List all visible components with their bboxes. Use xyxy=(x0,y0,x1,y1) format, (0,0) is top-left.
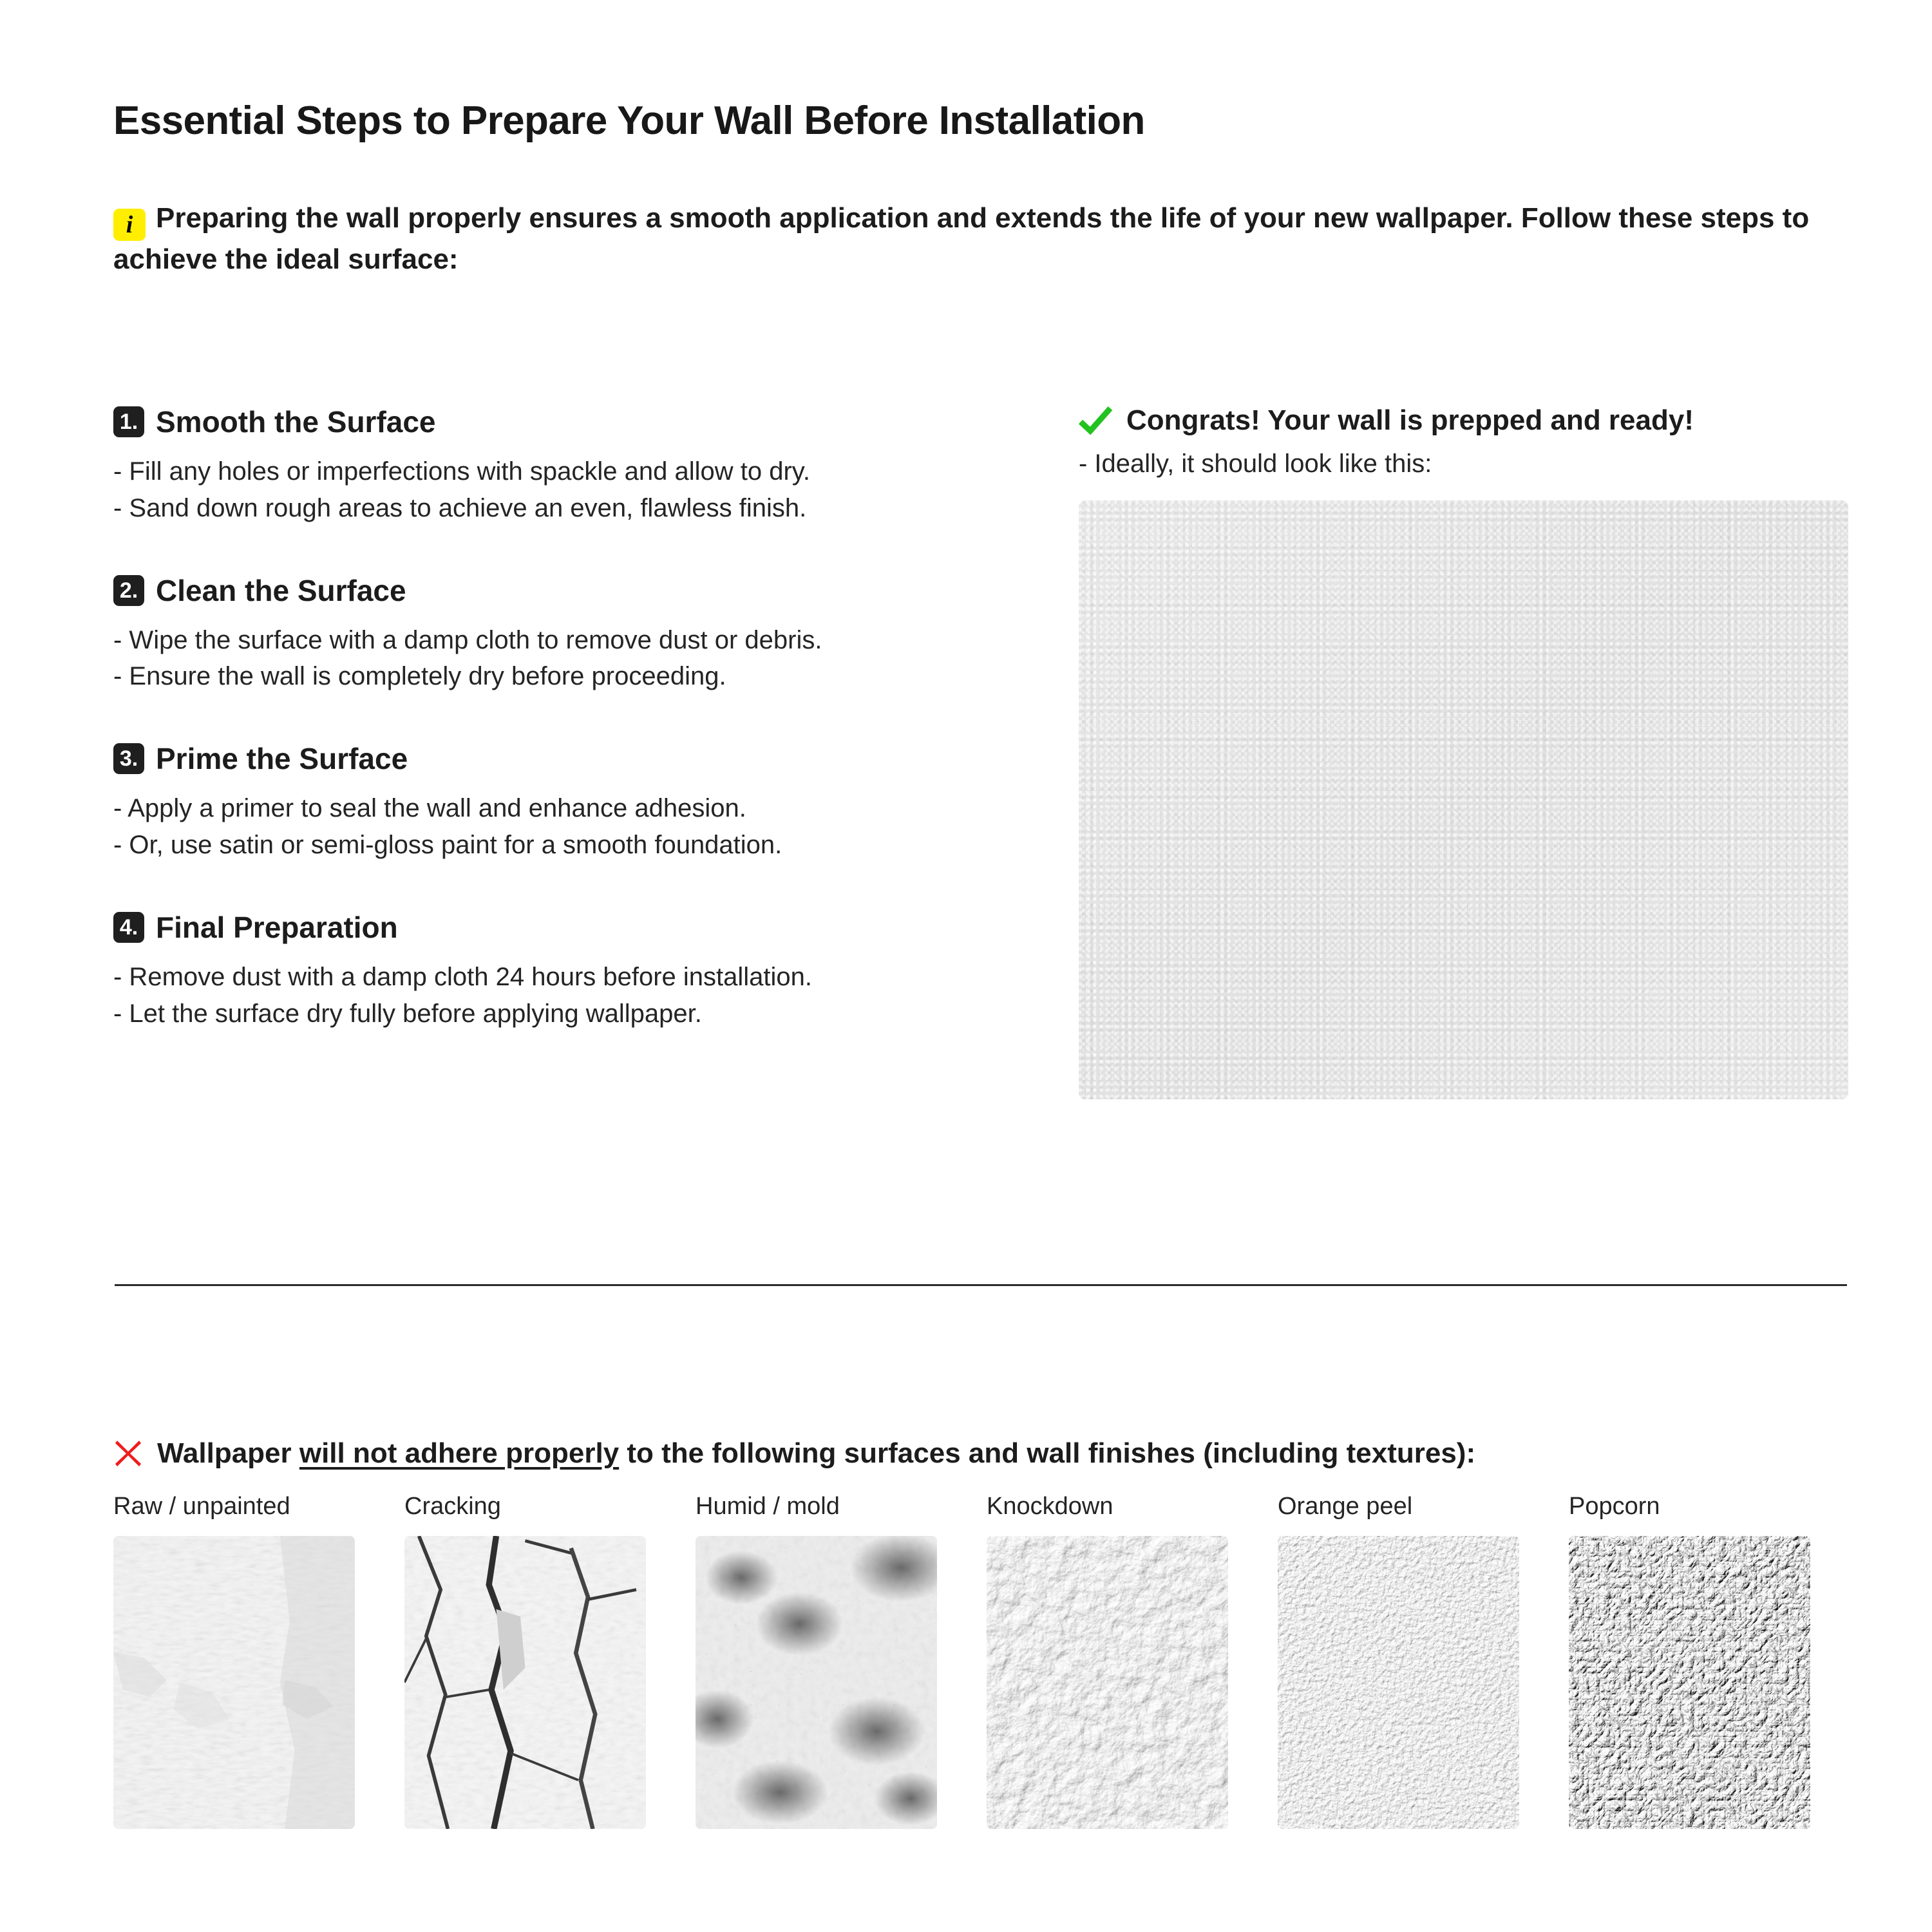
step-number-badge: 1. xyxy=(113,406,144,437)
texture-item: Orange peel xyxy=(1278,1493,1561,1829)
texture-thumbnail-knockdown xyxy=(987,1536,1228,1829)
step-title: Clean the Surface xyxy=(156,573,406,608)
texture-item: Cracking xyxy=(404,1493,688,1829)
step-bullet: - Wipe the surface with a damp cloth to … xyxy=(113,622,1015,659)
warning-text-underlined: will not adhere properly xyxy=(299,1437,619,1469)
step-bullet: - Fill any holes or imperfections with s… xyxy=(113,453,1015,490)
step-item: 1. Smooth the Surface - Fill any holes o… xyxy=(113,404,1015,527)
texture-label: Raw / unpainted xyxy=(113,1493,397,1520)
warning-text-after: to the following surfaces and wall finis… xyxy=(619,1437,1475,1469)
steps-list: 1. Smooth the Surface - Fill any holes o… xyxy=(113,404,1015,1032)
texture-label: Humid / mold xyxy=(696,1493,979,1520)
step-title: Prime the Surface xyxy=(156,741,408,776)
step-item: 3. Prime the Surface - Apply a primer to… xyxy=(113,741,1015,864)
step-bullet: - Let the surface dry fully before apply… xyxy=(113,996,1015,1032)
step-bullet: - Ensure the wall is completely dry befo… xyxy=(113,658,1015,695)
step-title: Final Preparation xyxy=(156,910,398,945)
step-bullet: - Sand down rough areas to achieve an ev… xyxy=(113,490,1015,527)
step-header: 3. Prime the Surface xyxy=(113,741,1015,776)
texture-item: Humid / mold xyxy=(696,1493,979,1829)
texture-label: Popcorn xyxy=(1569,1493,1852,1520)
warning-text: Wallpaper will not adhere properly to th… xyxy=(157,1437,1475,1470)
x-icon xyxy=(113,1439,143,1468)
step-bullet: - Or, use satin or semi-gloss paint for … xyxy=(113,827,1015,864)
ideal-wall-preview xyxy=(1079,500,1848,1099)
step-header: 2. Clean the Surface xyxy=(113,573,1015,608)
intro-paragraph: iPreparing the wall properly ensures a s… xyxy=(113,200,1839,279)
check-icon xyxy=(1079,406,1112,435)
texture-item: Knockdown xyxy=(987,1493,1270,1829)
step-title: Smooth the Surface xyxy=(156,404,436,439)
step-item: 2. Clean the Surface - Wipe the surface … xyxy=(113,573,1015,696)
texture-label: Cracking xyxy=(404,1493,688,1520)
congrats-header: Congrats! Your wall is prepped and ready… xyxy=(1079,404,1848,437)
step-bullet: - Remove dust with a damp cloth 24 hours… xyxy=(113,959,1015,996)
step-bullet: - Apply a primer to seal the wall and en… xyxy=(113,790,1015,827)
texture-label: Orange peel xyxy=(1278,1493,1561,1520)
page-title: Essential Steps to Prepare Your Wall Bef… xyxy=(113,98,1145,144)
step-header: 1. Smooth the Surface xyxy=(113,404,1015,439)
warning-header: Wallpaper will not adhere properly to th… xyxy=(113,1437,1475,1470)
step-number-badge: 3. xyxy=(113,743,144,774)
congrats-subtitle: - Ideally, it should look like this: xyxy=(1079,450,1848,478)
texture-thumbnail-popcorn xyxy=(1569,1536,1810,1829)
texture-thumbnail-raw xyxy=(113,1536,355,1829)
info-icon: i xyxy=(113,209,146,241)
texture-item: Raw / unpainted xyxy=(113,1493,397,1829)
intro-text: Preparing the wall properly ensures a sm… xyxy=(113,202,1809,275)
bad-surfaces-grid: Raw / unpainted Cracking xyxy=(113,1493,1852,1829)
texture-thumbnail-mold xyxy=(696,1536,937,1829)
texture-thumbnail-orangepeel xyxy=(1278,1536,1519,1829)
warning-text-before: Wallpaper xyxy=(157,1437,299,1469)
texture-label: Knockdown xyxy=(987,1493,1270,1520)
step-item: 4. Final Preparation - Remove dust with … xyxy=(113,910,1015,1032)
wall-prep-infographic: Essential Steps to Prepare Your Wall Bef… xyxy=(0,0,1932,1932)
texture-thumbnail-cracking xyxy=(404,1536,646,1829)
step-header: 4. Final Preparation xyxy=(113,910,1015,945)
congrats-panel: Congrats! Your wall is prepped and ready… xyxy=(1079,404,1848,1099)
step-number-badge: 2. xyxy=(113,575,144,606)
section-divider xyxy=(115,1284,1847,1286)
step-number-badge: 4. xyxy=(113,912,144,943)
congrats-title: Congrats! Your wall is prepped and ready… xyxy=(1126,404,1694,437)
texture-item: Popcorn xyxy=(1569,1493,1852,1829)
